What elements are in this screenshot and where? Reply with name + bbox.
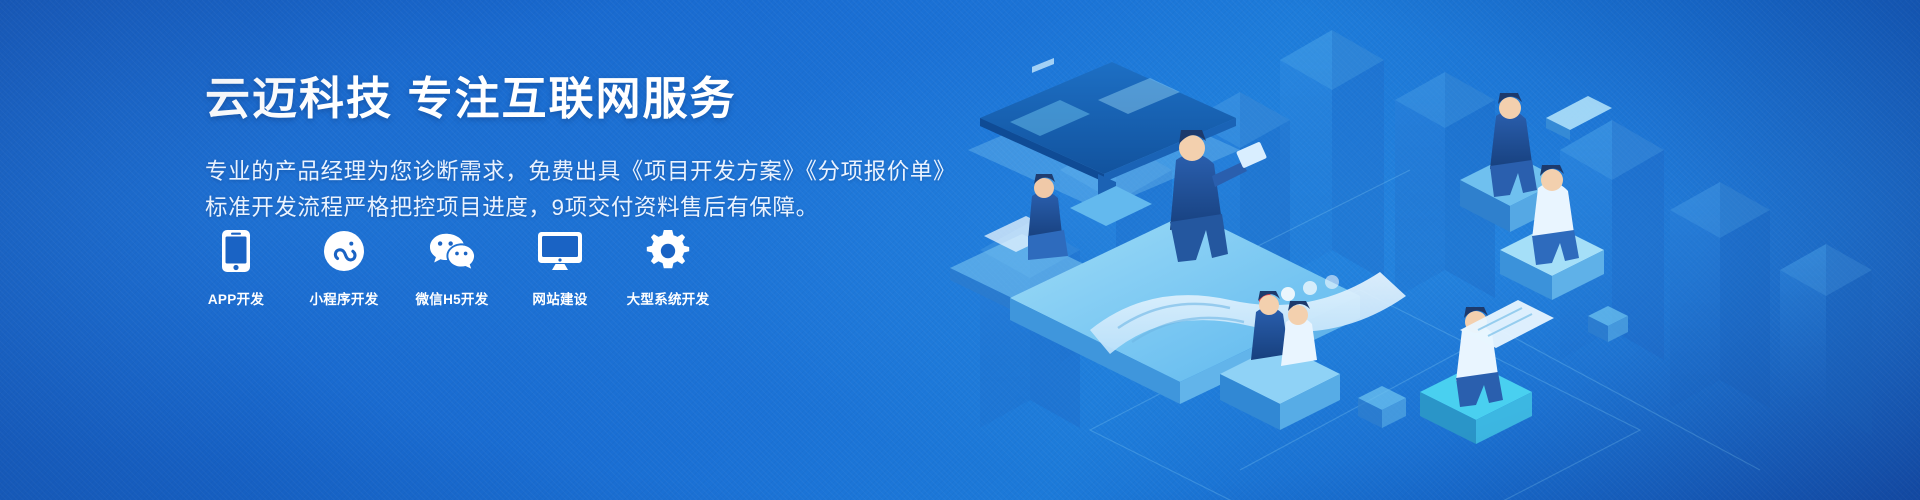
service-label: APP开发: [208, 288, 264, 308]
service-label: 微信H5开发: [415, 288, 488, 308]
page-title: 云迈科技 专注互联网服务: [205, 72, 905, 126]
isometric-illustration: [940, 0, 1920, 500]
service-item-mini-program[interactable]: 小程序开发: [308, 228, 380, 308]
service-label: 大型系统开发: [627, 288, 710, 308]
banner-copy: 云迈科技 专注互联网服务 专业的产品经理为您诊断需求，免费出具《项目开发方案》《…: [205, 72, 905, 227]
service-label: 网站建设: [532, 288, 587, 308]
subtitle-line-2: 标准开发流程严格把控项目进度，9项交付资料售后有保障。: [205, 190, 905, 226]
service-item-large-system[interactable]: 大型系统开发: [632, 228, 704, 308]
subtitle-line-1: 专业的产品经理为您诊断需求，免费出具《项目开发方案》《分项报价单》: [205, 154, 905, 190]
gear-icon: [645, 228, 691, 274]
service-item-wechat-h5[interactable]: 微信H5开发: [416, 228, 488, 308]
service-item-app[interactable]: APP开发: [200, 228, 272, 308]
service-list: APP开发 小程序开发: [200, 228, 704, 308]
monitor-icon: [537, 228, 583, 274]
mobile-phone-icon: [213, 228, 259, 274]
promo-banner: 云迈科技 专注互联网服务 专业的产品经理为您诊断需求，免费出具《项目开发方案》《…: [0, 0, 1920, 500]
service-label: 小程序开发: [310, 288, 379, 308]
wechat-icon: [429, 228, 475, 274]
service-item-website[interactable]: 网站建设: [524, 228, 596, 308]
mini-program-icon: [321, 228, 367, 274]
subtitle-block: 专业的产品经理为您诊断需求，免费出具《项目开发方案》《分项报价单》 标准开发流程…: [205, 154, 905, 227]
